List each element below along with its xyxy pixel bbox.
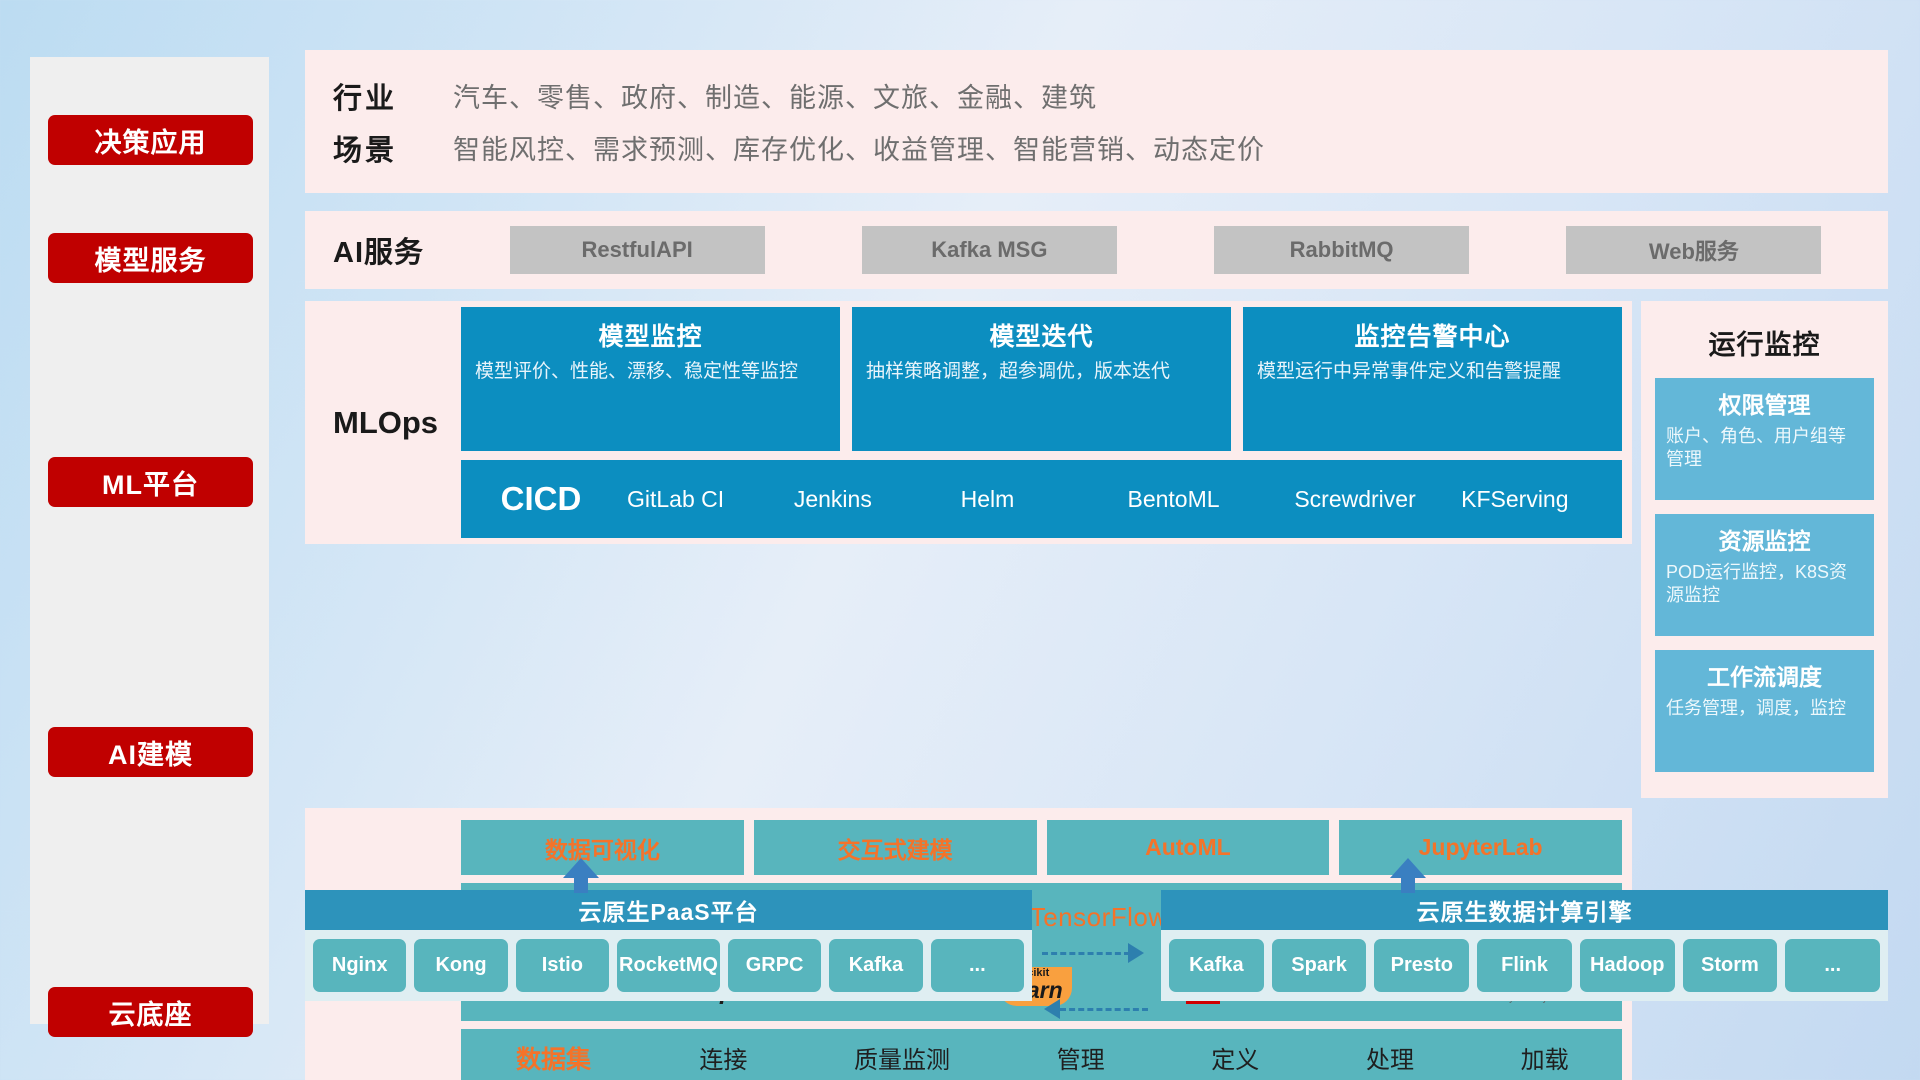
cicd-item-kfserving[interactable]: KFServing <box>1455 486 1622 512</box>
cloud-chip-nginx[interactable]: Nginx <box>313 939 406 992</box>
ml-tool-chip-list: 数据可视化 交互式建模 AutoML JupyterLab <box>461 820 1622 875</box>
card-title: 监控告警中心 <box>1257 317 1608 353</box>
card-title: 资源监控 <box>1666 522 1863 556</box>
scenario-values: 智能风控、需求预测、库存优化、收益管理、智能营销、动态定价 <box>453 128 1265 167</box>
card-title: 模型监控 <box>475 317 826 353</box>
dataset-item-definition[interactable]: 定义 <box>1211 1040 1259 1075</box>
monitor-card-resource[interactable]: 资源监控 POD运行监控，K8S资源监控 <box>1655 514 1874 636</box>
card-title: 工作流调度 <box>1666 658 1863 692</box>
cloud-compute-chip-list: Kafka Spark Presto Flink Hadoop Storm ..… <box>1161 930 1888 1001</box>
tool-chip-data-visualization[interactable]: 数据可视化 <box>461 820 744 875</box>
cloud-chip-grpc[interactable]: GRPC <box>728 939 821 992</box>
compute-chip-hadoop[interactable]: Hadoop <box>1580 939 1675 992</box>
industry-label: 行业 <box>333 75 453 117</box>
mlops-label: MLOps <box>333 405 461 441</box>
cicd-item-helm[interactable]: Helm <box>955 486 1122 512</box>
sidebar-item-decision-apps[interactable]: 决策应用 <box>48 115 253 165</box>
cloud-chip-kong[interactable]: Kong <box>414 939 507 992</box>
dataset-item-processing[interactable]: 处理 <box>1366 1040 1414 1075</box>
runtime-monitor-title: 运行监控 <box>1655 323 1874 362</box>
cicd-item-gitlab-ci[interactable]: GitLab CI <box>621 486 788 512</box>
card-desc: 抽样策略调整，超参调优，版本迭代 <box>866 359 1217 384</box>
sidebar-item-label: 云底座 <box>109 993 193 1032</box>
compute-chip-more[interactable]: ... <box>1785 939 1880 992</box>
compute-chip-presto[interactable]: Presto <box>1374 939 1469 992</box>
stack-layer-rail: 决策应用 模型服务 ML平台 AI建模 云底座 <box>30 57 269 1024</box>
mlops-card-model-iteration[interactable]: 模型迭代 抽样策略调整，超参调优，版本迭代 <box>852 307 1231 451</box>
cicd-item-list: GitLab CI Jenkins Helm BentoML Screwdriv… <box>621 486 1622 512</box>
decision-applications-panel: 行业 汽车、零售、政府、制造、能源、文旅、金融、建筑 场景 智能风控、需求预测、… <box>305 50 1888 193</box>
cloud-paas-chip-list: Nginx Kong Istio RocketMQ GRPC Kafka ... <box>305 930 1032 1001</box>
compute-chip-flink[interactable]: Flink <box>1477 939 1572 992</box>
industry-row: 行业 汽车、零售、政府、制造、能源、文旅、金融、建筑 <box>333 70 1888 122</box>
ai-service-chip-web[interactable]: Web服务 <box>1566 226 1821 274</box>
cicd-item-screwdriver[interactable]: Screwdriver <box>1288 486 1455 512</box>
industry-values: 汽车、零售、政府、制造、能源、文旅、金融、建筑 <box>453 76 1097 115</box>
runtime-monitor-panel: 运行监控 权限管理 账户、角色、用户组等管理 资源监控 POD运行监控，K8S资… <box>1641 301 1888 798</box>
cicd-item-bentoml[interactable]: BentoML <box>1121 486 1288 512</box>
cloud-chip-more[interactable]: ... <box>931 939 1024 992</box>
cicd-label: CICD <box>461 480 621 518</box>
tool-chip-automl[interactable]: AutoML <box>1047 820 1330 875</box>
card-title: 权限管理 <box>1666 386 1863 420</box>
dataset-item-management[interactable]: 管理 <box>1057 1040 1105 1075</box>
cloud-foundation-band: 云原生PaaS平台 Nginx Kong Istio RocketMQ GRPC… <box>305 890 1888 1040</box>
compute-chip-spark[interactable]: Spark <box>1272 939 1367 992</box>
ai-service-chip-list: RestfulAPI Kafka MSG RabbitMQ Web服务 <box>461 226 1888 274</box>
dataset-item-loading[interactable]: 加载 <box>1521 1040 1569 1075</box>
tool-chip-jupyterlab[interactable]: JupyterLab <box>1339 820 1622 875</box>
cloud-paas-block: 云原生PaaS平台 Nginx Kong Istio RocketMQ GRPC… <box>305 890 1032 1001</box>
ml-platform-band: MLOps 模型监控 模型评价、性能、漂移、稳定性等监控 模型迭代 抽样策略调整… <box>305 301 1888 798</box>
monitor-card-workflow[interactable]: 工作流调度 任务管理，调度，监控 <box>1655 650 1874 772</box>
dataset-label: 数据集 <box>461 1040 646 1076</box>
card-desc: 账户、角色、用户组等管理 <box>1666 425 1863 472</box>
scenario-row: 场景 智能风控、需求预测、库存优化、收益管理、智能营销、动态定价 <box>333 122 1888 174</box>
monitor-card-permission[interactable]: 权限管理 账户、角色、用户组等管理 <box>1655 378 1874 500</box>
sidebar-item-model-service[interactable]: 模型服务 <box>48 233 253 283</box>
card-desc: 模型评价、性能、漂移、稳定性等监控 <box>475 359 826 384</box>
sidebar-item-ai-modeling[interactable]: AI建模 <box>48 727 253 777</box>
sidebar-item-ml-platform[interactable]: ML平台 <box>48 457 253 507</box>
cloud-chip-istio[interactable]: Istio <box>516 939 609 992</box>
cicd-bar: CICD GitLab CI Jenkins Helm BentoML Scre… <box>461 460 1622 538</box>
dataset-item-list: 连接 质量监测 管理 定义 处理 加载 <box>646 1040 1622 1075</box>
cloud-compute-title: 云原生数据计算引擎 <box>1161 890 1888 930</box>
tool-chip-interactive-modeling[interactable]: 交互式建模 <box>754 820 1037 875</box>
mlops-card-list: 模型监控 模型评价、性能、漂移、稳定性等监控 模型迭代 抽样策略调整，超参调优，… <box>461 307 1622 451</box>
compute-chip-kafka[interactable]: Kafka <box>1169 939 1264 992</box>
ai-service-panel: AI服务 RestfulAPI Kafka MSG RabbitMQ Web服务 <box>305 211 1888 289</box>
ai-service-label: AI服务 <box>333 229 461 271</box>
ai-service-chip-restfulapi[interactable]: RestfulAPI <box>510 226 765 274</box>
mlops-panel: MLOps 模型监控 模型评价、性能、漂移、稳定性等监控 模型迭代 抽样策略调整… <box>305 301 1632 544</box>
card-desc: 模型运行中异常事件定义和告警提醒 <box>1257 359 1608 384</box>
card-desc: POD运行监控，K8S资源监控 <box>1666 561 1863 608</box>
scenario-label: 场景 <box>333 127 453 169</box>
card-title: 模型迭代 <box>866 317 1217 353</box>
sidebar-item-label: 决策应用 <box>95 121 207 160</box>
sidebar-item-label: 模型服务 <box>95 239 207 278</box>
dataset-item-connect[interactable]: 连接 <box>699 1040 747 1075</box>
mlops-card-alert-center[interactable]: 监控告警中心 模型运行中异常事件定义和告警提醒 <box>1243 307 1622 451</box>
sidebar-item-label: ML平台 <box>102 463 199 502</box>
cicd-item-jenkins[interactable]: Jenkins <box>788 486 955 512</box>
ai-service-chip-kafka-msg[interactable]: Kafka MSG <box>862 226 1117 274</box>
mlops-content: 模型监控 模型评价、性能、漂移、稳定性等监控 模型迭代 抽样策略调整，超参调优，… <box>461 307 1632 538</box>
card-desc: 任务管理，调度，监控 <box>1666 697 1863 720</box>
compute-chip-storm[interactable]: Storm <box>1683 939 1778 992</box>
cloud-compute-block: 云原生数据计算引擎 Kafka Spark Presto Flink Hadoo… <box>1161 890 1888 1001</box>
mlops-card-model-monitoring[interactable]: 模型监控 模型评价、性能、漂移、稳定性等监控 <box>461 307 840 451</box>
dataset-item-quality-monitoring[interactable]: 质量监测 <box>854 1040 950 1075</box>
cloud-paas-title: 云原生PaaS平台 <box>305 890 1032 930</box>
cloud-chip-rocketmq[interactable]: RocketMQ <box>617 939 720 992</box>
cloud-chip-kafka[interactable]: Kafka <box>829 939 922 992</box>
ai-service-chip-rabbitmq[interactable]: RabbitMQ <box>1214 226 1469 274</box>
sidebar-item-label: AI建模 <box>108 733 193 772</box>
sidebar-item-cloud-base[interactable]: 云底座 <box>48 987 253 1037</box>
